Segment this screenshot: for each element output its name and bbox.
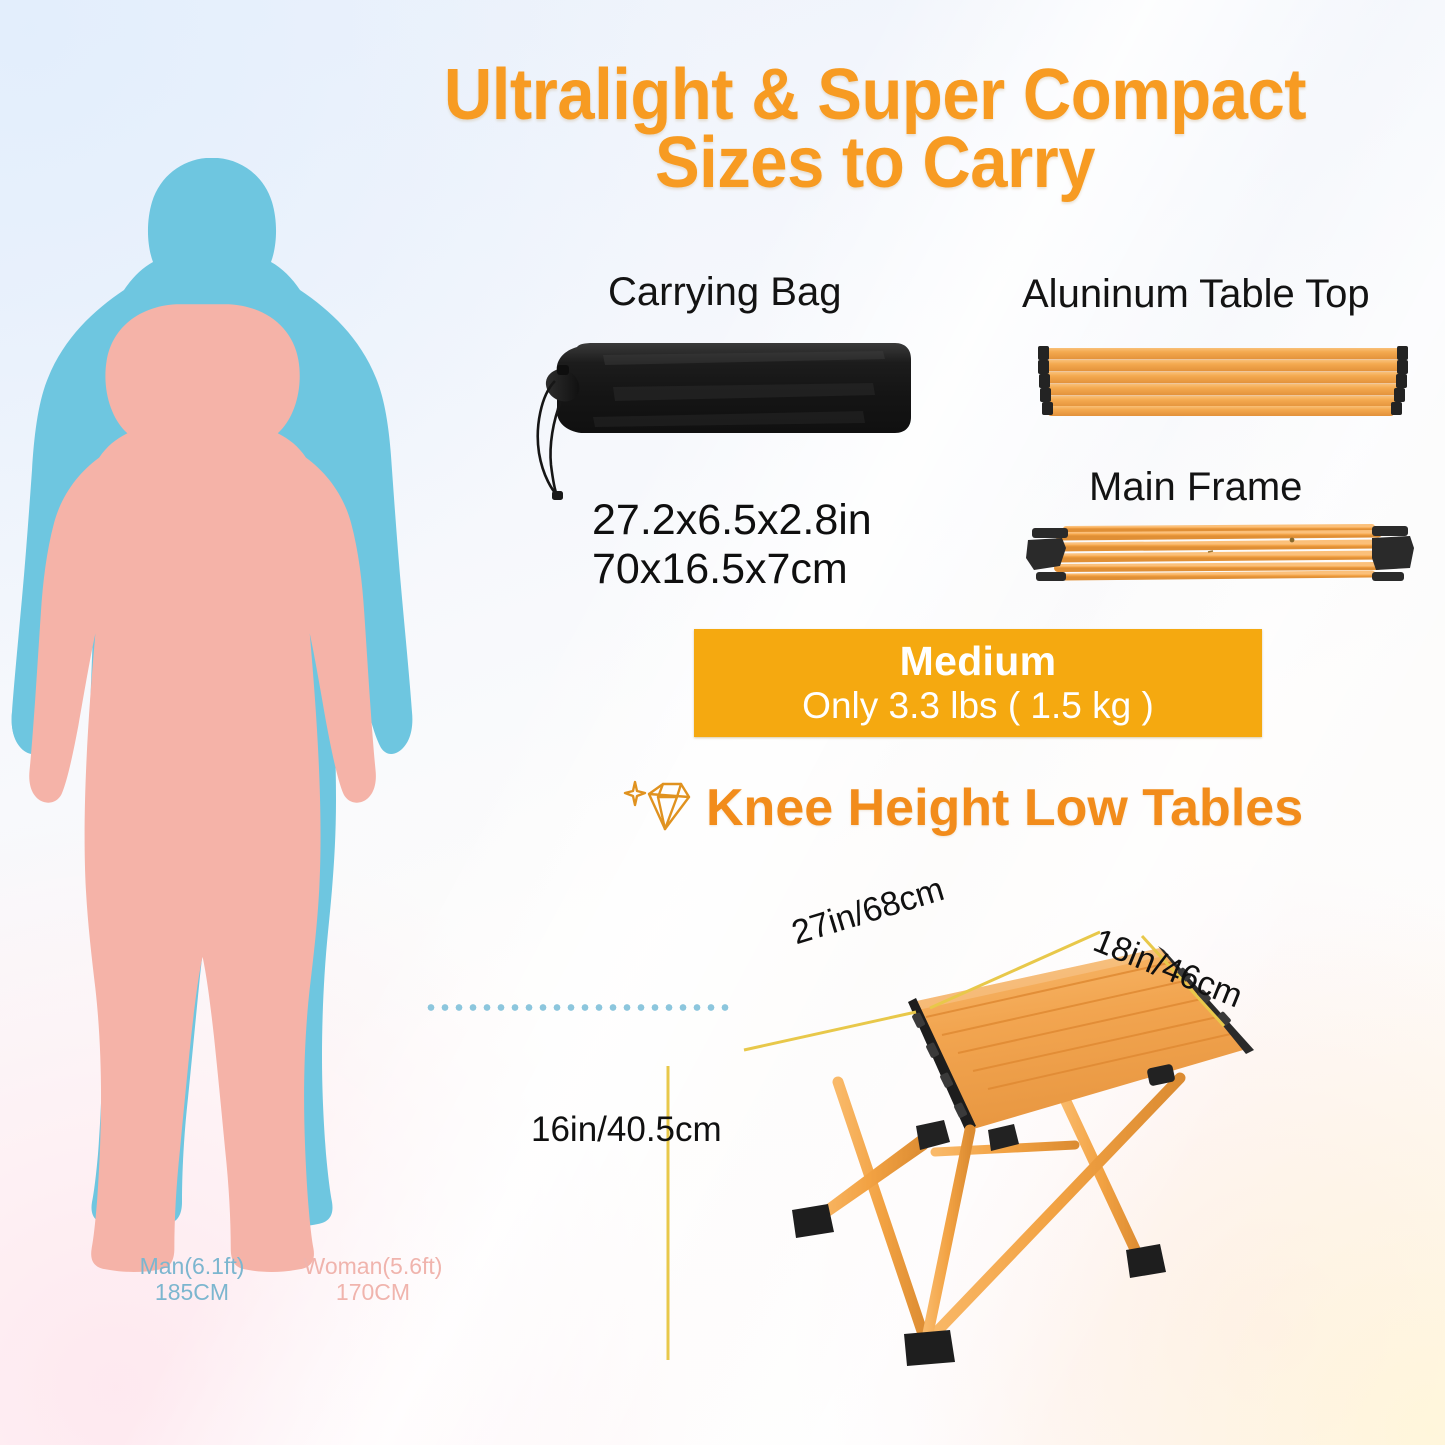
table-height-dimension: 16in/40.5cm <box>531 1110 722 1150</box>
page-title: Ultralight & Super Compact Sizes to Carr… <box>368 62 1382 197</box>
carrying-bag-dimensions: 27.2x6.5x2.8in 70x16.5x7cm <box>592 496 872 594</box>
carrying-bag-image <box>533 325 933 525</box>
infographic-canvas: Ultralight & Super Compact Sizes to Carr… <box>0 0 1445 1445</box>
woman-height-text: 170CM <box>336 1279 410 1305</box>
diamond-icon <box>620 777 692 839</box>
aluminum-table-top-image <box>1028 340 1418 422</box>
knee-height-dotted-line <box>424 1003 730 1012</box>
bag-dims-cm: 70x16.5x7cm <box>592 545 848 593</box>
knee-height-feature: Knee Height Low Tables <box>620 777 1303 839</box>
man-label-text: Man(6.1ft) <box>140 1253 245 1279</box>
size-weight-badge: Medium Only 3.3 lbs ( 1.5 kg ) <box>694 629 1262 737</box>
bag-dims-inches: 27.2x6.5x2.8in <box>592 496 872 544</box>
badge-size-label: Medium <box>694 640 1262 683</box>
badge-weight-label: Only 3.3 lbs ( 1.5 kg ) <box>694 685 1262 726</box>
scale-silhouettes <box>10 150 480 1290</box>
main-frame-caption: Main Frame <box>1089 465 1302 510</box>
main-frame-image <box>1020 518 1420 592</box>
man-height-text: 185CM <box>155 1279 229 1305</box>
aluminum-table-top-caption: Aluninum Table Top <box>1022 272 1370 317</box>
knee-height-text: Knee Height Low Tables <box>706 778 1303 838</box>
page-title-line2: Sizes to Carry <box>368 130 1382 198</box>
woman-scale-label: Woman(5.6ft) 170CM <box>258 1254 488 1306</box>
carrying-bag-caption: Carrying Bag <box>608 270 841 315</box>
woman-label-text: Woman(5.6ft) <box>304 1253 443 1279</box>
